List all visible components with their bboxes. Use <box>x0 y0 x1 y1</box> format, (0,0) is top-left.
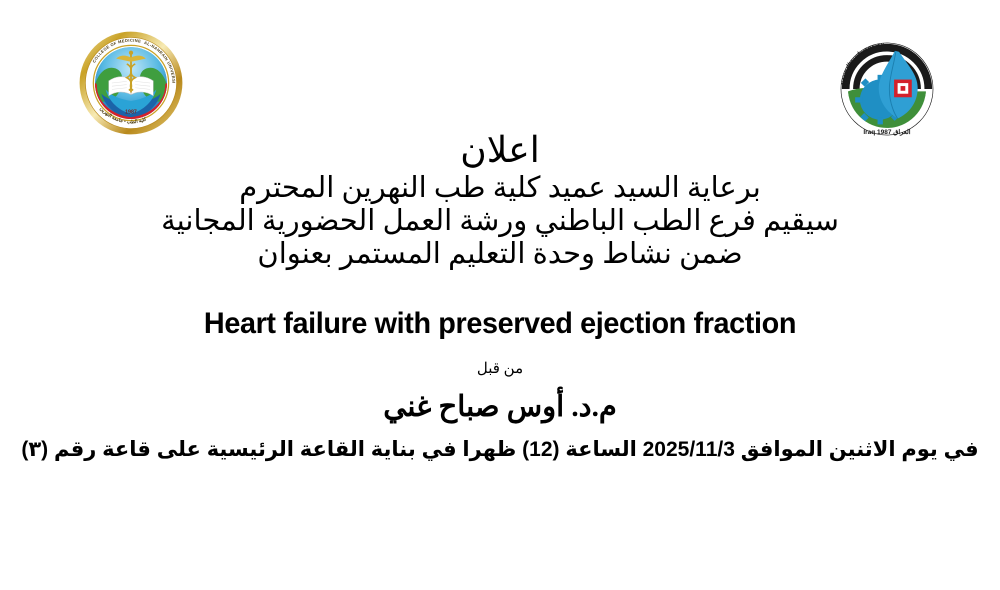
speaker-name: م.د. أوس صباح غني <box>0 390 1000 424</box>
page-title: اعلان <box>0 128 1000 172</box>
poster-content: اعلان برعاية السيد عميد كلية طب النهرين … <box>0 128 1000 464</box>
activity-line: ضمن نشاط وحدة التعليم المستمر بعنوان <box>0 238 1000 271</box>
organizer-line: سيقيم فرع الطب الباطني ورشة العمل الحضور… <box>0 205 1000 238</box>
event-details-line: في يوم الاثنين الموافق 2025/11/3 الساعة … <box>0 436 1000 464</box>
lecture-title-english: Heart failure with preserved ejection fr… <box>20 307 980 341</box>
patronage-line: برعاية السيد عميد كلية طب النهرين المحتر… <box>0 172 1000 205</box>
college-of-medicine-logo: 1987 COLLEGE OF MEDICINE AL-NAHRAIN UNIV… <box>78 30 184 136</box>
byline-label: من قبل <box>0 359 1000 379</box>
svg-text:جامعة النهرين: جامعة النهرين <box>840 48 866 82</box>
announcement-poster: 1987 COLLEGE OF MEDICINE AL-NAHRAIN UNIV… <box>0 0 1000 590</box>
logo-year-1987: 1987 <box>125 110 137 116</box>
